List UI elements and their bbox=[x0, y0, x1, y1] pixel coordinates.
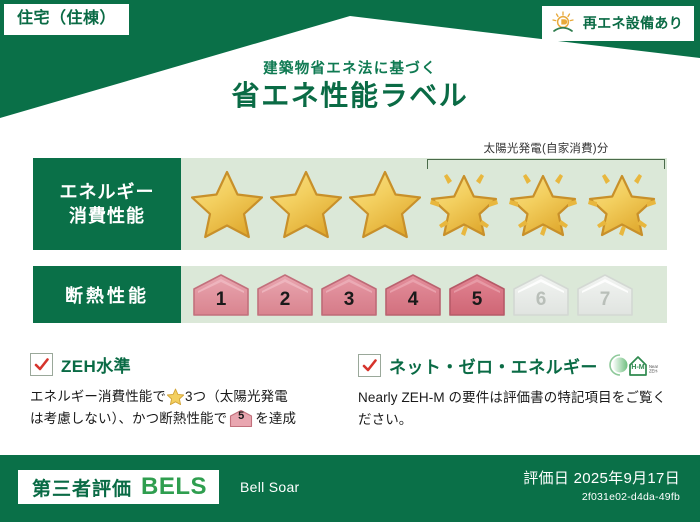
building-type-tag: 住宅（住棟） bbox=[4, 4, 129, 35]
insulation-level-value: 4 bbox=[408, 289, 419, 318]
energy-performance-row: エネルギー 消費性能 太陽光発電(自家消費)分 bbox=[33, 158, 667, 250]
star-rating bbox=[181, 164, 660, 244]
title-block: 建築物省エネ法に基づく 省エネ性能ラベル bbox=[0, 62, 700, 110]
net-zero-energy-title: ネット・ゼロ・エネルギー bbox=[389, 353, 598, 378]
net-zero-energy-block: ネット・ゼロ・エネルギー H-M Nearly ZEH-M Nearly ZEH… bbox=[358, 352, 678, 431]
solar-annotation: 太陽光発電(自家消費)分 bbox=[421, 144, 671, 169]
solar-annotation-label: 太陽光発電(自家消費)分 bbox=[421, 144, 671, 156]
net-zero-energy-header: ネット・ゼロ・エネルギー H-M Nearly ZEH-M bbox=[358, 352, 678, 378]
insulation-level-value: 5 bbox=[472, 289, 483, 318]
insulation-level-value: 2 bbox=[280, 289, 291, 318]
star-6-solar bbox=[584, 164, 660, 244]
insulation-performance-row: 断熱性能 1 bbox=[33, 266, 667, 323]
star-4-solar bbox=[426, 164, 502, 244]
svg-text:H-M: H-M bbox=[631, 364, 644, 371]
insulation-level-value: 7 bbox=[600, 289, 611, 318]
star-icon bbox=[586, 169, 658, 239]
energy-key-line2: 消費性能 bbox=[69, 204, 145, 228]
insulation-level-6: 6 bbox=[511, 272, 571, 318]
third-party-label: 第三者評価 bbox=[32, 474, 132, 501]
zeh-standard-title: ZEH水準 bbox=[61, 352, 131, 377]
zeh-standard-checkbox[interactable] bbox=[30, 353, 53, 376]
zeh-body-part2: は考慮しない）、かつ断熱性能で bbox=[30, 411, 227, 426]
inline-house-badge: 5 bbox=[229, 409, 253, 428]
star-icon bbox=[270, 169, 342, 239]
insulation-key-label: 断熱性能 bbox=[65, 282, 149, 308]
energy-performance-key: エネルギー 消費性能 bbox=[33, 158, 181, 250]
zeh-standard-header: ZEH水準 bbox=[30, 352, 340, 377]
star-2 bbox=[268, 164, 344, 244]
star-3 bbox=[347, 164, 423, 244]
energy-performance-value: 太陽光発電(自家消費)分 bbox=[181, 158, 667, 250]
zeh-body-part3: を達成 bbox=[255, 411, 296, 426]
zeh-body-part1: エネルギー消費性能で bbox=[30, 389, 166, 404]
zeh-body-star-count: 3つ（太陽光発電 bbox=[185, 389, 288, 404]
zeh-standard-block: ZEH水準 エネルギー消費性能で 3つ（太陽光発電は考慮しない）、かつ断熱性能で… bbox=[30, 352, 340, 430]
renewable-energy-badge: 再エネ設備あり bbox=[542, 6, 694, 41]
bels-logo-text: BELS bbox=[141, 473, 207, 501]
sun-icon bbox=[550, 11, 576, 35]
insulation-level-value: 1 bbox=[216, 289, 227, 318]
net-zero-energy-checkbox[interactable] bbox=[358, 354, 381, 377]
check-icon bbox=[34, 357, 49, 372]
check-icon bbox=[362, 358, 377, 373]
star-icon bbox=[507, 169, 579, 239]
svg-text:ZEH-M: ZEH-M bbox=[649, 369, 658, 374]
insulation-level-value: 6 bbox=[536, 289, 547, 318]
insulation-level-3: 3 bbox=[319, 272, 379, 318]
zeh-standard-body: エネルギー消費性能で 3つ（太陽光発電は考慮しない）、かつ断熱性能で 5 を達成 bbox=[30, 386, 340, 430]
bell-soar-label: Bell Soar bbox=[240, 479, 300, 495]
insulation-level-5: 5 bbox=[447, 272, 507, 318]
insulation-level-4: 4 bbox=[383, 272, 443, 318]
net-zero-energy-body: Nearly ZEH-M の要件は評価書の特記項目をご覧ください。 bbox=[358, 387, 678, 431]
evaluation-date: 評価日 2025年9月17日 bbox=[523, 470, 680, 488]
insulation-level-2: 2 bbox=[255, 272, 315, 318]
energy-performance-label: 住宅（住棟） 再エネ設備あり 建築物省エネ法に基づく 省エネ性能ラベル エネルギ… bbox=[0, 0, 700, 522]
star-icon bbox=[191, 169, 263, 239]
inline-house-value: 5 bbox=[229, 409, 253, 428]
insulation-level-scale: 1 2 3 bbox=[181, 272, 635, 318]
star-5-solar bbox=[505, 164, 581, 244]
solar-bracket bbox=[427, 159, 665, 169]
footer-meta: 評価日 2025年9月17日 2f031e02-d4da-49fb bbox=[523, 470, 680, 505]
insulation-level-value: 3 bbox=[344, 289, 355, 318]
third-party-evaluation-block: 第三者評価 BELS bbox=[18, 470, 219, 504]
label-title: 省エネ性能ラベル bbox=[0, 82, 700, 110]
zeh-m-logo-icon: H-M Nearly ZEH-M bbox=[606, 352, 658, 378]
insulation-level-7: 7 bbox=[575, 272, 635, 318]
renewable-badge-label: 再エネ設備あり bbox=[583, 13, 683, 33]
label-subtitle: 建築物省エネ法に基づく bbox=[0, 62, 700, 77]
star-icon bbox=[428, 169, 500, 239]
insulation-level-1: 1 bbox=[191, 272, 251, 318]
inline-star-icon bbox=[167, 388, 184, 405]
footer: 第三者評価 BELS Bell Soar 評価日 2025年9月17日 2f03… bbox=[0, 460, 700, 522]
insulation-performance-key: 断熱性能 bbox=[33, 266, 181, 323]
star-icon bbox=[349, 169, 421, 239]
insulation-performance-value: 1 2 3 bbox=[181, 266, 667, 323]
energy-key-line1: エネルギー bbox=[60, 180, 155, 204]
star-1 bbox=[189, 164, 265, 244]
record-id: 2f031e02-d4da-49fb bbox=[523, 490, 680, 505]
